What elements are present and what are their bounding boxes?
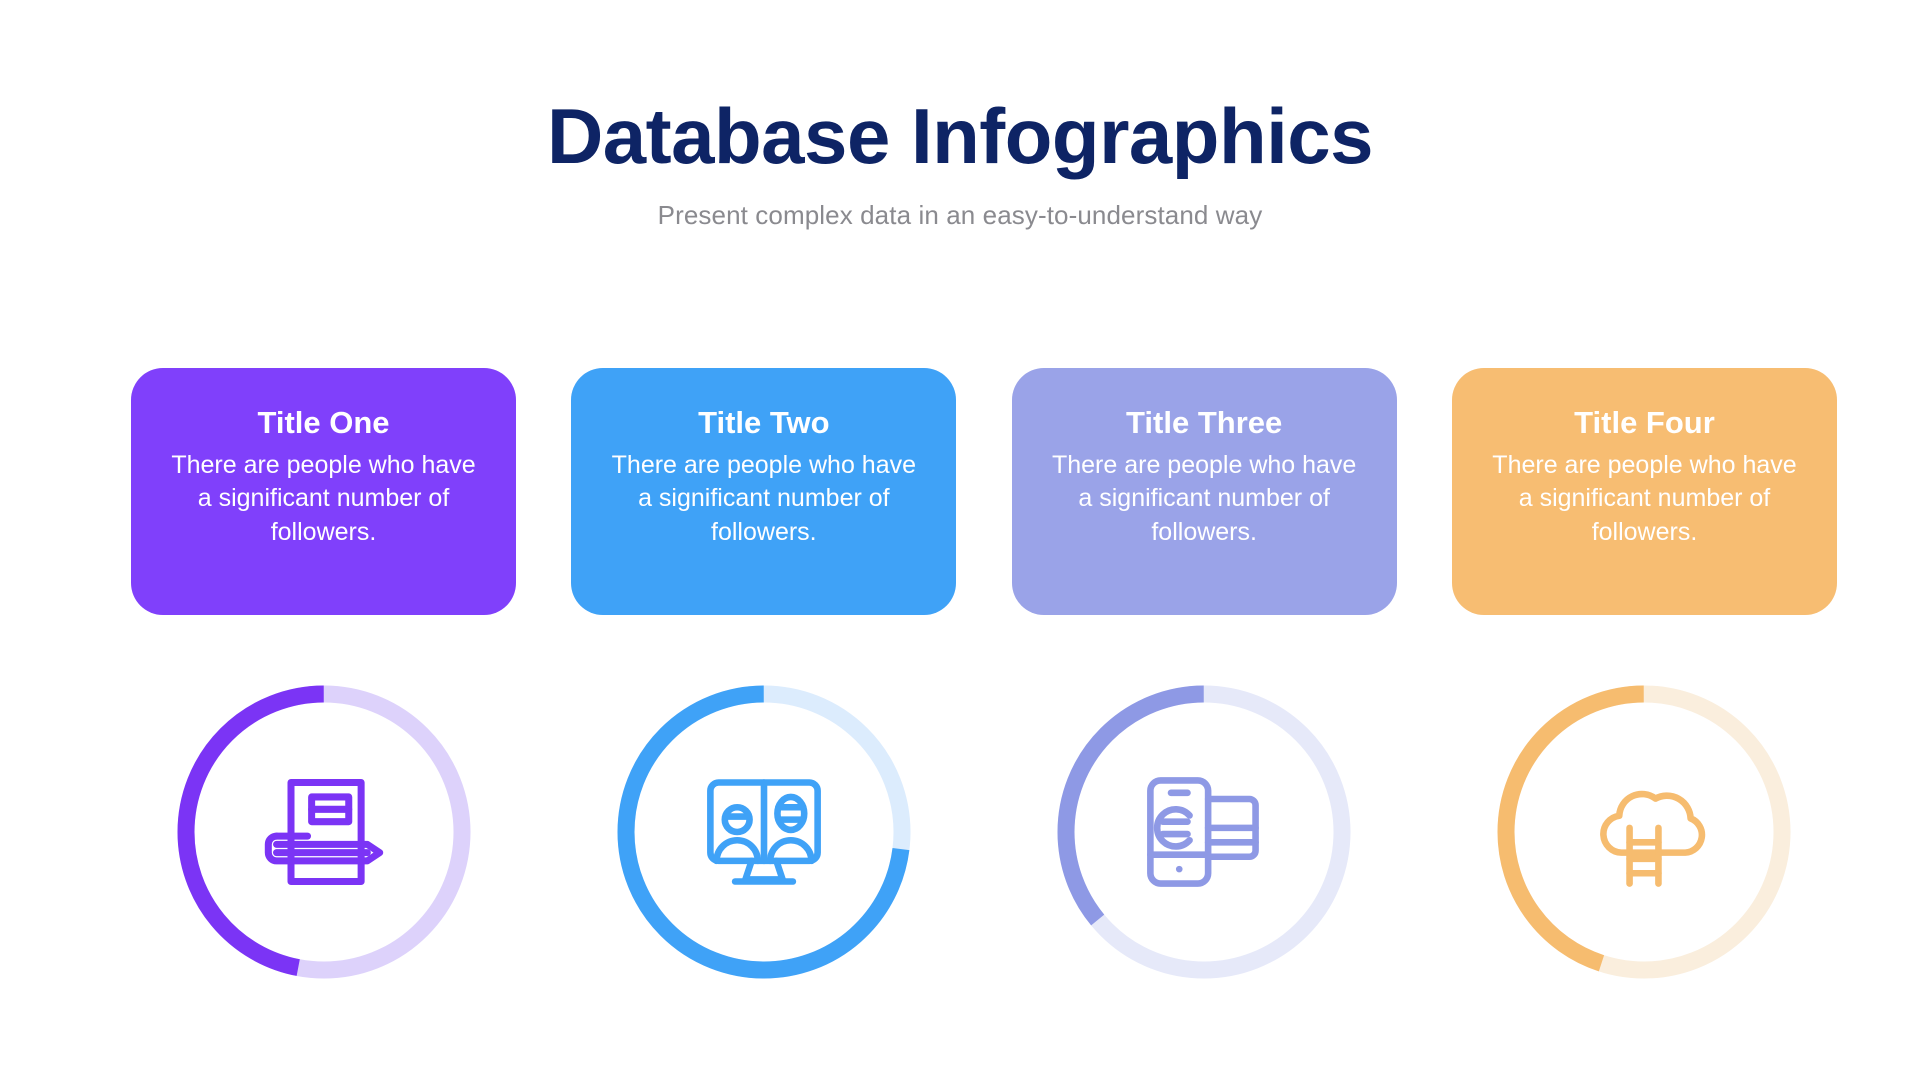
notebook-pencil-icon	[258, 766, 390, 898]
donut-chart-1	[169, 677, 479, 987]
card-body-text: There are people who have a significant …	[604, 449, 924, 549]
infographic-column-1: Title One There are people who have a si…	[131, 368, 516, 987]
card-body-text: There are people who have a significant …	[1484, 449, 1804, 549]
donut-chart-4	[1489, 677, 1799, 987]
donut-chart-2	[609, 677, 919, 987]
infographic-column-4: Title Four There are people who have a s…	[1452, 368, 1837, 987]
infographic-columns: Title One There are people who have a si…	[131, 368, 1837, 987]
card-title-label: Title Two	[698, 404, 829, 441]
donut-chart-3	[1049, 677, 1359, 987]
card-title-label: Title One	[257, 404, 389, 441]
card-title-one[interactable]: Title One There are people who have a si…	[131, 368, 516, 615]
video-call-monitor-icon	[698, 766, 830, 898]
slide-header: Database Infographics Present complex da…	[0, 96, 1920, 231]
mobile-payment-euro-icon	[1138, 766, 1270, 898]
card-title-four[interactable]: Title Four There are people who have a s…	[1452, 368, 1837, 615]
cloud-ladder-icon	[1578, 766, 1710, 898]
card-body-text: There are people who have a significant …	[1044, 449, 1364, 549]
page-title: Database Infographics	[0, 96, 1920, 178]
infographic-column-2: Title Two There are people who have a si…	[571, 368, 956, 987]
infographic-slide: Database Infographics Present complex da…	[0, 0, 1920, 1080]
card-title-three[interactable]: Title Three There are people who have a …	[1012, 368, 1397, 615]
card-body-text: There are people who have a significant …	[164, 449, 484, 549]
card-title-label: Title Four	[1574, 404, 1715, 441]
infographic-column-3: Title Three There are people who have a …	[1012, 368, 1397, 987]
card-title-label: Title Three	[1126, 404, 1282, 441]
card-title-two[interactable]: Title Two There are people who have a si…	[571, 368, 956, 615]
page-subtitle: Present complex data in an easy-to-under…	[0, 200, 1920, 231]
